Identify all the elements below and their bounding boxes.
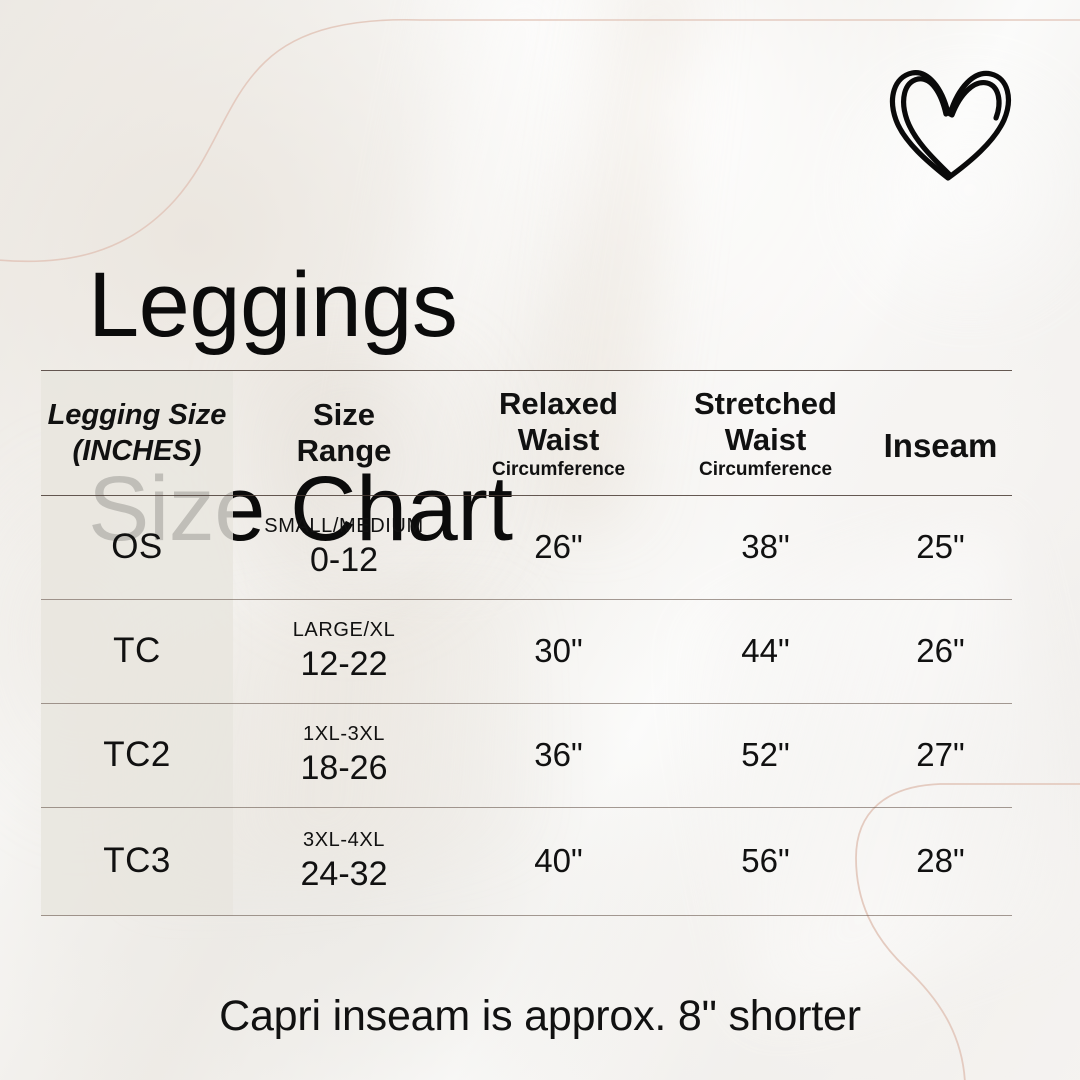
cell-size-range-value: 12-22 xyxy=(301,644,388,684)
table-row: TC3 3XL-4XL 24-32 40" 56" 28" xyxy=(41,807,1012,915)
cell-relaxed-waist: 36" xyxy=(455,736,662,774)
cell-inseam: 25" xyxy=(869,528,1012,566)
table-header-row: Legging Size (INCHES) Size Range Relaxed… xyxy=(41,371,1012,495)
cell-stretched-waist: 44" xyxy=(662,632,869,670)
cell-size-range: 1XL-3XL 18-26 xyxy=(233,722,455,788)
header-legging-size-line-1: Legging Size xyxy=(48,397,227,433)
cell-inseam-value: 27" xyxy=(916,736,964,774)
page-title-line-1: Leggings xyxy=(88,254,513,356)
cell-inseam-value: 25" xyxy=(916,528,964,566)
cell-size-range: 3XL-4XL 24-32 xyxy=(233,828,455,894)
cell-size-range-label: LARGE/XL xyxy=(293,618,396,642)
cell-inseam: 28" xyxy=(869,842,1012,880)
cell-size: OS xyxy=(41,527,233,567)
table-row: TC LARGE/XL 12-22 30" 44" 26" xyxy=(41,599,1012,703)
size-chart-canvas: Leggings Size Chart Legging Size (INCHES… xyxy=(0,0,1080,1080)
cell-size: TC3 xyxy=(41,841,233,881)
cell-stretched-waist: 52" xyxy=(662,736,869,774)
cell-stretched-waist: 56" xyxy=(662,842,869,880)
cell-inseam: 26" xyxy=(869,632,1012,670)
cell-size-range-value: 24-32 xyxy=(301,854,388,894)
table-row: TC2 1XL-3XL 18-26 36" 52" 27" xyxy=(41,703,1012,807)
cell-stretched-waist-value: 56" xyxy=(741,842,789,880)
cell-stretched-waist-value: 44" xyxy=(741,632,789,670)
cell-stretched-waist-value: 38" xyxy=(741,528,789,566)
header-stretched-waist-line-2: Waist xyxy=(725,422,807,458)
cell-stretched-waist: 38" xyxy=(662,528,869,566)
cell-relaxed-waist-value: 40" xyxy=(534,842,582,880)
header-stretched-waist-line-1: Stretched xyxy=(694,386,837,422)
cell-inseam-value: 28" xyxy=(916,842,964,880)
header-inseam: Inseam xyxy=(869,401,1012,465)
cell-relaxed-waist-value: 30" xyxy=(534,632,582,670)
header-size-range: Size Range xyxy=(233,397,455,469)
cell-relaxed-waist: 30" xyxy=(455,632,662,670)
cell-size-value: OS xyxy=(111,527,163,567)
cell-size-range-label: 3XL-4XL xyxy=(303,828,385,852)
cell-size-range-value: 18-26 xyxy=(301,748,388,788)
header-relaxed-waist-line-1: Relaxed xyxy=(499,386,618,422)
header-stretched-waist-sub: Circumference xyxy=(699,459,832,481)
header-inseam-label: Inseam xyxy=(884,427,998,465)
cell-relaxed-waist-value: 26" xyxy=(534,528,582,566)
cell-size-range: LARGE/XL 12-22 xyxy=(233,618,455,684)
header-legging-size: Legging Size (INCHES) xyxy=(41,397,233,469)
cell-size-range-label: SMALL/MEDIUM xyxy=(264,514,423,538)
header-size-range-line-1: Size xyxy=(313,397,375,433)
cell-size-range: SMALL/MEDIUM 0-12 xyxy=(233,514,455,580)
footer-note: Capri inseam is approx. 8" shorter xyxy=(0,992,1080,1041)
cell-size-value: TC3 xyxy=(103,841,171,881)
cell-stretched-waist-value: 52" xyxy=(741,736,789,774)
table-row: OS SMALL/MEDIUM 0-12 26" 38" 25" xyxy=(41,495,1012,599)
header-stretched-waist: Stretched Waist Circumference xyxy=(662,386,869,481)
cell-size-value: TC xyxy=(113,631,161,671)
table-bottom-rule xyxy=(41,915,1012,916)
cell-relaxed-waist: 40" xyxy=(455,842,662,880)
cell-relaxed-waist: 26" xyxy=(455,528,662,566)
cell-inseam: 27" xyxy=(869,736,1012,774)
header-relaxed-waist-sub: Circumference xyxy=(492,459,625,481)
heart-doodle-icon xyxy=(884,58,1024,188)
header-relaxed-waist: Relaxed Waist Circumference xyxy=(455,386,662,481)
header-legging-size-line-2: (INCHES) xyxy=(73,433,202,469)
header-size-range-line-2: Range xyxy=(297,433,392,469)
cell-size: TC xyxy=(41,631,233,671)
header-relaxed-waist-line-2: Waist xyxy=(518,422,600,458)
cell-size: TC2 xyxy=(41,735,233,775)
cell-relaxed-waist-value: 36" xyxy=(534,736,582,774)
cell-inseam-value: 26" xyxy=(916,632,964,670)
cell-size-range-label: 1XL-3XL xyxy=(303,722,385,746)
cell-size-range-value: 0-12 xyxy=(310,540,378,580)
cell-size-value: TC2 xyxy=(103,735,171,775)
